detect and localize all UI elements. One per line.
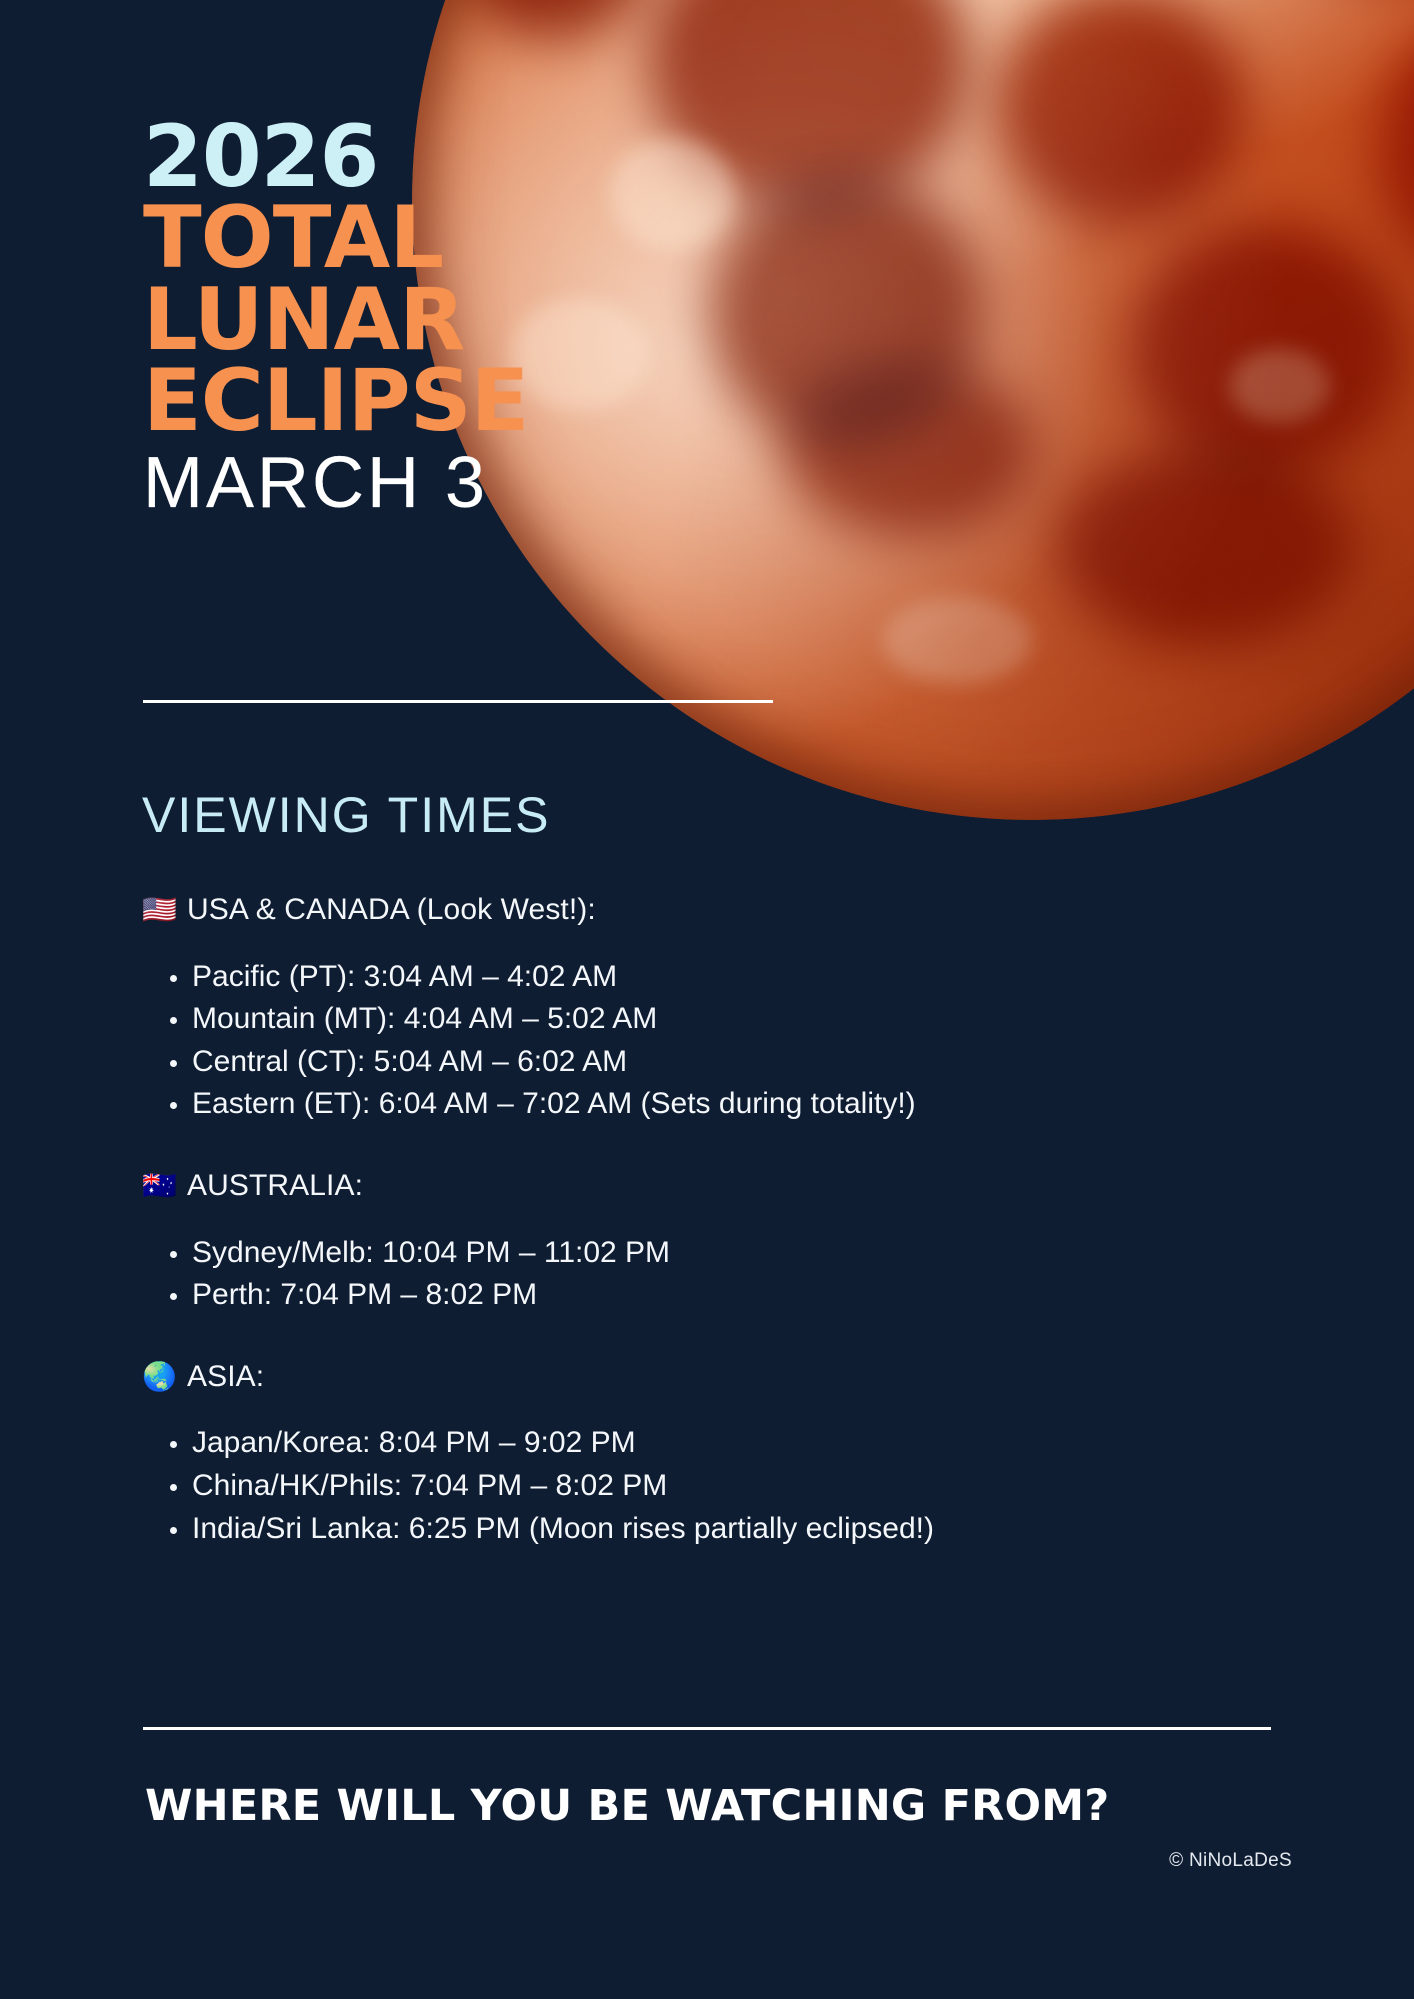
list-item: Perth: 7:04 PM – 8:02 PM [142, 1274, 1282, 1317]
title-line-lunar: LUNAR [143, 280, 528, 362]
region-group-asia: 🌏 ASIA: Japan/Korea: 8:04 PM – 9:02 PM C… [142, 1357, 1282, 1550]
call-to-action-text: WHERE WILL YOU BE WATCHING FROM? [145, 1781, 1109, 1831]
region-heading-australia: 🇦🇺 AUSTRALIA: [142, 1166, 1282, 1206]
title-divider [143, 700, 773, 703]
list-item: China/HK/Phils: 7:04 PM – 8:02 PM [142, 1465, 1282, 1508]
list-item: Eastern (ET): 6:04 AM – 7:02 AM (Sets du… [142, 1083, 1282, 1126]
page-title: 2026 TOTAL LUNAR ECLIPSE MARCH 3 [143, 118, 528, 520]
region-group-usa-canada: 🇺🇸 USA & CANADA (Look West!): Pacific (P… [142, 890, 1282, 1126]
copyright-credit: © NiNoLaDeS [1169, 1850, 1292, 1872]
viewing-times-heading: VIEWING TIMES [142, 786, 550, 844]
eclipse-poster: 2026 TOTAL LUNAR ECLIPSE MARCH 3 VIEWING… [0, 0, 1414, 1999]
list-item: Japan/Korea: 8:04 PM – 9:02 PM [142, 1422, 1282, 1465]
list-item: Central (CT): 5:04 AM – 6:02 AM [142, 1041, 1282, 1084]
time-list-usa-canada: Pacific (PT): 3:04 AM – 4:02 AM Mountain… [142, 956, 1282, 1126]
title-line-eclipse: ECLIPSE [143, 361, 528, 443]
region-heading-usa-canada: 🇺🇸 USA & CANADA (Look West!): [142, 890, 1282, 930]
region-label: USA & CANADA (Look West!): [187, 890, 596, 930]
time-list-australia: Sydney/Melb: 10:04 PM – 11:02 PM Perth: … [142, 1232, 1282, 1317]
list-item: Mountain (MT): 4:04 AM – 5:02 AM [142, 998, 1282, 1041]
flag-usa-icon: 🇺🇸 [142, 896, 177, 924]
globe-asia-icon: 🌏 [142, 1363, 177, 1391]
region-label: AUSTRALIA: [187, 1166, 363, 1206]
region-group-australia: 🇦🇺 AUSTRALIA: Sydney/Melb: 10:04 PM – 11… [142, 1166, 1282, 1317]
title-date: MARCH 3 [143, 447, 528, 520]
region-heading-asia: 🌏 ASIA: [142, 1357, 1282, 1397]
title-year: 2026 [143, 118, 528, 198]
list-item: Sydney/Melb: 10:04 PM – 11:02 PM [142, 1232, 1282, 1275]
region-label: ASIA: [187, 1357, 264, 1397]
footer-divider [143, 1727, 1271, 1730]
list-item: India/Sri Lanka: 6:25 PM (Moon rises par… [142, 1508, 1282, 1551]
viewing-times-list: 🇺🇸 USA & CANADA (Look West!): Pacific (P… [142, 890, 1282, 1590]
list-item: Pacific (PT): 3:04 AM – 4:02 AM [142, 956, 1282, 999]
title-line-total: TOTAL [143, 198, 528, 280]
time-list-asia: Japan/Korea: 8:04 PM – 9:02 PM China/HK/… [142, 1422, 1282, 1550]
flag-australia-icon: 🇦🇺 [142, 1172, 177, 1200]
